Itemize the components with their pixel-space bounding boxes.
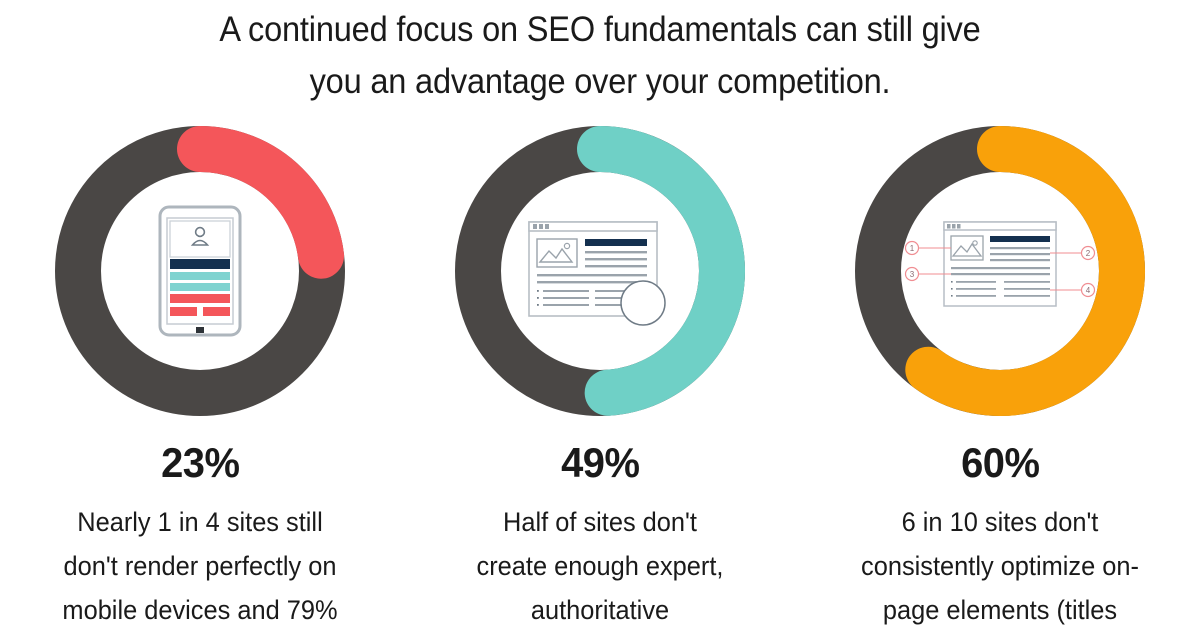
caption-line: page elements (titles: [817, 588, 1184, 632]
caption-line: 6 in 10 sites don't: [817, 500, 1184, 544]
donut-svg-content: [445, 116, 755, 426]
donut-svg-mobile: [45, 116, 355, 426]
stat-caption-onpage: 6 in 10 sites don't consistently optimiz…: [817, 500, 1184, 632]
infographic-poster: A continued focus on SEO fundamentals ca…: [0, 0, 1200, 630]
stat-percent-mobile: 23%: [161, 440, 239, 486]
stat-caption-content: Half of sites don't create enough expert…: [417, 500, 784, 632]
caption-line: mobile devices and 79%: [17, 588, 384, 632]
caption-line: Nearly 1 in 4 sites still: [17, 500, 384, 544]
donut-svg-onpage: [845, 116, 1155, 426]
stat-percent-onpage: 60%: [961, 440, 1039, 486]
caption-line: create enough expert,: [417, 544, 784, 588]
stat-caption-mobile: Nearly 1 in 4 sites still don't render p…: [17, 500, 384, 632]
donut-value-arc-onpage: [928, 149, 1122, 393]
headline-line-1: A continued focus on SEO fundamentals ca…: [144, 4, 1055, 56]
stat-column-onpage: 1 2 3 4 60% 6 in 10 sites don't: [800, 116, 1200, 632]
donut-chart-content: [445, 116, 755, 426]
stat-column-mobile: 23% Nearly 1 in 4 sites still don't rend…: [0, 116, 400, 632]
stat-column-content: 49% Half of sites don't create enough ex…: [400, 116, 800, 632]
stat-columns: 23% Nearly 1 in 4 sites still don't rend…: [0, 108, 1200, 632]
donut-chart-onpage: 1 2 3 4: [845, 116, 1155, 426]
caption-line: Half of sites don't: [417, 500, 784, 544]
donut-value-arc-mobile: [200, 149, 321, 256]
page-title: A continued focus on SEO fundamentals ca…: [144, 0, 1055, 108]
donut-chart-mobile: [45, 116, 355, 426]
donut-value-arc-content: [600, 149, 722, 393]
stat-percent-content: 49%: [561, 440, 639, 486]
caption-line: don't render perfectly on: [17, 544, 384, 588]
caption-line: authoritative: [417, 588, 784, 632]
caption-line: consistently optimize on-: [817, 544, 1184, 588]
headline-line-2: you an advantage over your competition.: [144, 56, 1055, 108]
